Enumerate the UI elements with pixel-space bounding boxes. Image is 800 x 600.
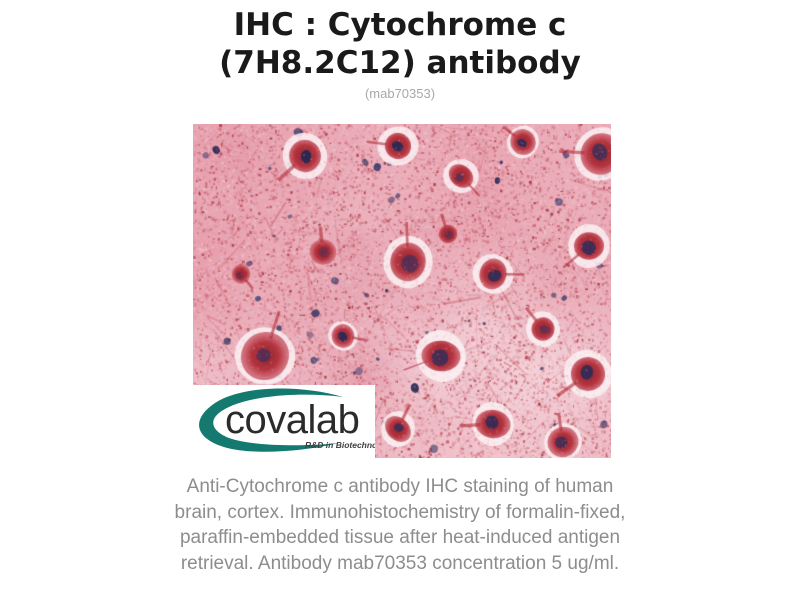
logo-wordmark: covalab (225, 398, 359, 442)
covalab-logo: covalab R&D in Biotechnology (193, 385, 375, 458)
caption-line-4: retrieval. Antibody mab70353 concentrati… (100, 551, 700, 577)
page-title-line-1: IHC : Cytochrome c (0, 6, 800, 44)
page-title-block: IHC : Cytochrome c (7H8.2C12) antibody (… (0, 0, 800, 103)
figure-caption: Anti-Cytochrome c antibody IHC staining … (100, 474, 700, 576)
caption-line-1: Anti-Cytochrome c antibody IHC staining … (100, 474, 700, 500)
page-title-line-2: (7H8.2C12) antibody (0, 44, 800, 82)
caption-line-2: brain, cortex. Immunohistochemistry of f… (100, 500, 700, 526)
logo-tagline: R&D in Biotechnology (305, 440, 375, 450)
caption-line-3: paraffin-embedded tissue after heat-indu… (100, 525, 700, 551)
product-code-label: (mab70353) (0, 85, 800, 103)
